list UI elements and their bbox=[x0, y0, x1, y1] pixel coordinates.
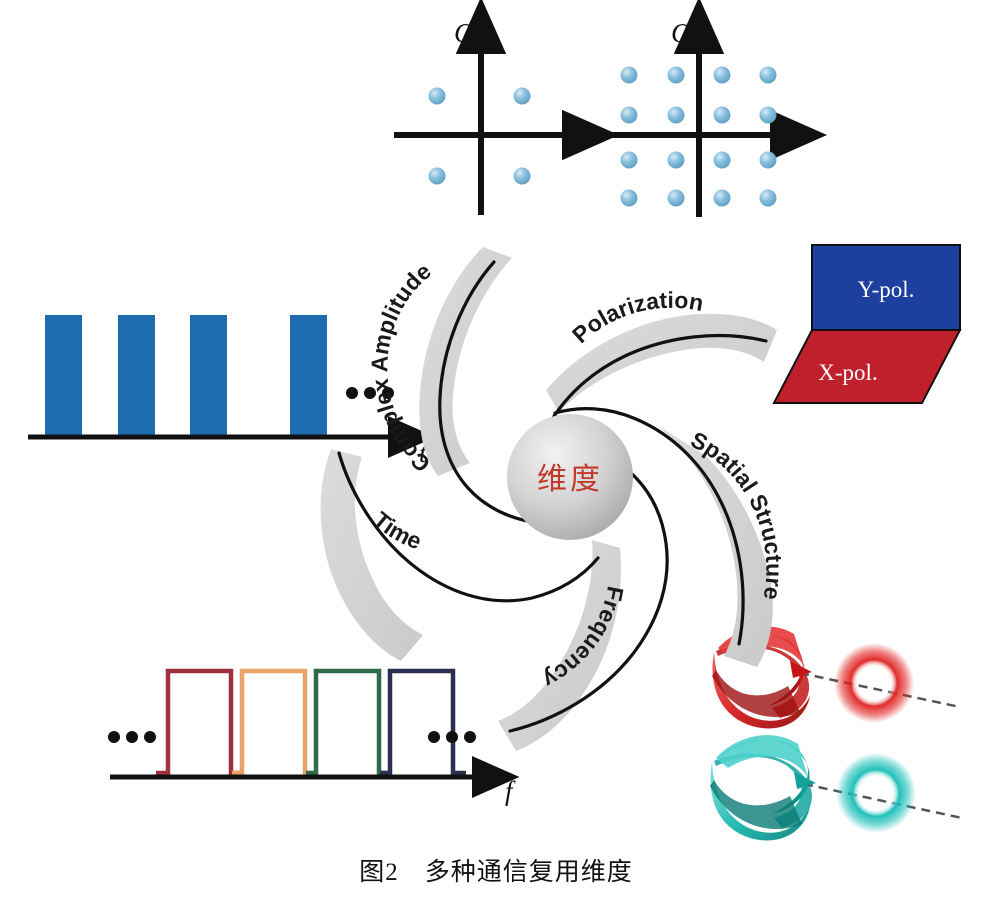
constellation-point bbox=[621, 67, 638, 84]
constellation-point bbox=[760, 152, 777, 169]
figure-root: Q I Q I bbox=[0, 0, 992, 915]
constellation-point bbox=[429, 168, 446, 185]
constellation-point bbox=[760, 67, 777, 84]
qam-i-label: I bbox=[789, 122, 801, 152]
constellation-point bbox=[668, 190, 685, 207]
constellation-point bbox=[714, 107, 731, 124]
constellation-point bbox=[621, 152, 638, 169]
x-polarization-label: X-pol. bbox=[818, 360, 877, 385]
frequency-ellipsis-left bbox=[108, 731, 156, 743]
y-polarization-label: Y-pol. bbox=[858, 277, 915, 302]
constellation-point bbox=[429, 88, 446, 105]
oam-mode-cyan bbox=[710, 735, 962, 840]
freq-channel bbox=[232, 671, 317, 773]
time-signal-panel: t bbox=[28, 315, 428, 468]
freq-channel bbox=[306, 671, 391, 773]
constellation-point bbox=[621, 190, 638, 207]
figure-caption: 图2多种通信复用维度 bbox=[0, 852, 992, 888]
constellation-point bbox=[514, 168, 531, 185]
frequency-axis-label: f bbox=[505, 776, 516, 806]
pulse-bar bbox=[45, 315, 82, 437]
constellation-point bbox=[760, 107, 777, 124]
constellation-point bbox=[668, 67, 685, 84]
figure-canvas: Q I Q I bbox=[0, 0, 992, 915]
constellation-16qam: Q I bbox=[605, 18, 801, 217]
qpsk-i-label: I bbox=[581, 122, 593, 152]
arm-ribbon-time bbox=[321, 449, 423, 661]
caption-number: 图2 bbox=[359, 859, 399, 886]
constellation-point bbox=[714, 67, 731, 84]
freq-channel bbox=[156, 671, 243, 773]
frequency-signal-panel: f bbox=[108, 671, 516, 806]
constellation-point bbox=[760, 190, 777, 207]
arm-ribbon-complex-amplitude bbox=[419, 247, 512, 476]
spiral-core-label: 维度 bbox=[537, 462, 603, 497]
constellation-point bbox=[621, 107, 638, 124]
oam-ring-red bbox=[834, 643, 914, 723]
constellation-point bbox=[668, 107, 685, 124]
freq-channel bbox=[380, 671, 466, 773]
qpsk-q-label: Q bbox=[454, 18, 474, 48]
qam-q-label: Q bbox=[671, 18, 691, 48]
constellation-point bbox=[714, 190, 731, 207]
frequency-ellipsis-right bbox=[428, 731, 476, 743]
polarization-panel: Y-pol. X-pol. bbox=[774, 245, 960, 403]
arm-label-time: Time bbox=[368, 506, 425, 554]
constellation-point bbox=[668, 152, 685, 169]
pulse-bar bbox=[190, 315, 227, 437]
constellation-qpsk: Q I bbox=[394, 18, 593, 215]
constellation-point bbox=[514, 88, 531, 105]
pulse-bar bbox=[118, 315, 155, 437]
caption-text: 多种通信复用维度 bbox=[425, 859, 633, 886]
pulse-bar bbox=[290, 315, 327, 437]
oam-ring-cyan bbox=[836, 753, 916, 833]
constellation-point bbox=[714, 152, 731, 169]
